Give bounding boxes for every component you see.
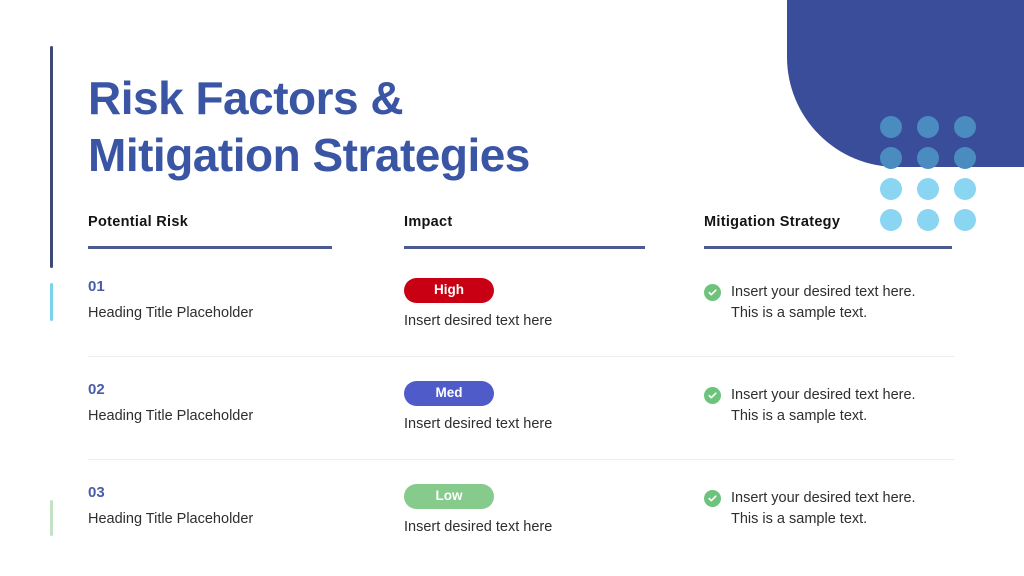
accent-bar-green: [50, 500, 53, 536]
mitigation-text-line-1: Insert your desired text here.: [731, 284, 916, 300]
table-row: 02 Heading Title Placeholder Med Insert …: [88, 357, 954, 460]
dot-grid-decoration: [880, 116, 976, 220]
impact-cell: Low Insert desired text here: [404, 484, 704, 548]
mitigation-cell: Insert your desired text here. This is a…: [704, 381, 954, 445]
slide-canvas: Risk Factors & Mitigation Strategies Pot…: [0, 0, 1024, 576]
page-title: Risk Factors & Mitigation Strategies: [88, 70, 728, 183]
mitigation-text: Insert your desired text here. This is a…: [731, 385, 916, 426]
status-badge: Low: [404, 484, 494, 509]
impact-cell: Med Insert desired text here: [404, 381, 704, 445]
dot: [917, 178, 939, 200]
risk-title: Heading Title Placeholder: [88, 407, 404, 427]
risk-title: Heading Title Placeholder: [88, 510, 404, 530]
dot: [954, 178, 976, 200]
impact-cell: High Insert desired text here: [404, 278, 704, 342]
mitigation-text: Insert your desired text here. This is a…: [731, 488, 916, 529]
table-header-row: Potential Risk Impact Mitigation Strateg…: [88, 214, 954, 254]
dot: [917, 147, 939, 169]
risk-cell: 01 Heading Title Placeholder: [88, 278, 404, 342]
dot: [954, 209, 976, 231]
dot: [954, 147, 976, 169]
check-circle-icon: [704, 284, 721, 301]
impact-description: Insert desired text here: [404, 312, 704, 332]
column-header-underline: [88, 246, 332, 249]
column-header-label: Mitigation Strategy: [704, 214, 954, 230]
column-header-label: Impact: [404, 214, 704, 230]
risk-table: Potential Risk Impact Mitigation Strateg…: [88, 214, 954, 562]
column-header-mitigation-strategy: Mitigation Strategy: [704, 214, 954, 254]
page-title-line-2: Mitigation Strategies: [88, 127, 728, 184]
column-header-impact: Impact: [404, 214, 704, 254]
page-title-line-1: Risk Factors &: [88, 70, 728, 127]
risk-title: Heading Title Placeholder: [88, 304, 404, 324]
column-header-label: Potential Risk: [88, 214, 404, 230]
table-row: 01 Heading Title Placeholder High Insert…: [88, 254, 954, 357]
table-row: 03 Heading Title Placeholder Low Insert …: [88, 460, 954, 562]
mitigation-cell: Insert your desired text here. This is a…: [704, 278, 954, 342]
check-circle-icon: [704, 490, 721, 507]
risk-number: 02: [88, 381, 404, 399]
dot: [880, 147, 902, 169]
dot: [954, 116, 976, 138]
dot: [917, 116, 939, 138]
mitigation-text-line-2: This is a sample text.: [731, 511, 867, 527]
risk-number: 03: [88, 484, 404, 502]
dot: [880, 116, 902, 138]
impact-description: Insert desired text here: [404, 415, 704, 435]
mitigation-text-line-2: This is a sample text.: [731, 305, 867, 321]
risk-cell: 02 Heading Title Placeholder: [88, 381, 404, 445]
mitigation-cell: Insert your desired text here. This is a…: [704, 484, 954, 548]
status-badge: Med: [404, 381, 494, 406]
dot: [880, 178, 902, 200]
mitigation-text-line-2: This is a sample text.: [731, 408, 867, 424]
column-header-underline: [704, 246, 952, 249]
mitigation-text-line-1: Insert your desired text here.: [731, 387, 916, 403]
check-circle-icon: [704, 387, 721, 404]
accent-bar-navy: [50, 46, 53, 268]
column-header-underline: [404, 246, 645, 249]
mitigation-text-line-1: Insert your desired text here.: [731, 490, 916, 506]
accent-bar-cyan: [50, 283, 53, 321]
risk-number: 01: [88, 278, 404, 296]
column-header-potential-risk: Potential Risk: [88, 214, 404, 254]
risk-cell: 03 Heading Title Placeholder: [88, 484, 404, 548]
impact-description: Insert desired text here: [404, 518, 704, 538]
mitigation-text: Insert your desired text here. This is a…: [731, 282, 916, 323]
status-badge: High: [404, 278, 494, 303]
